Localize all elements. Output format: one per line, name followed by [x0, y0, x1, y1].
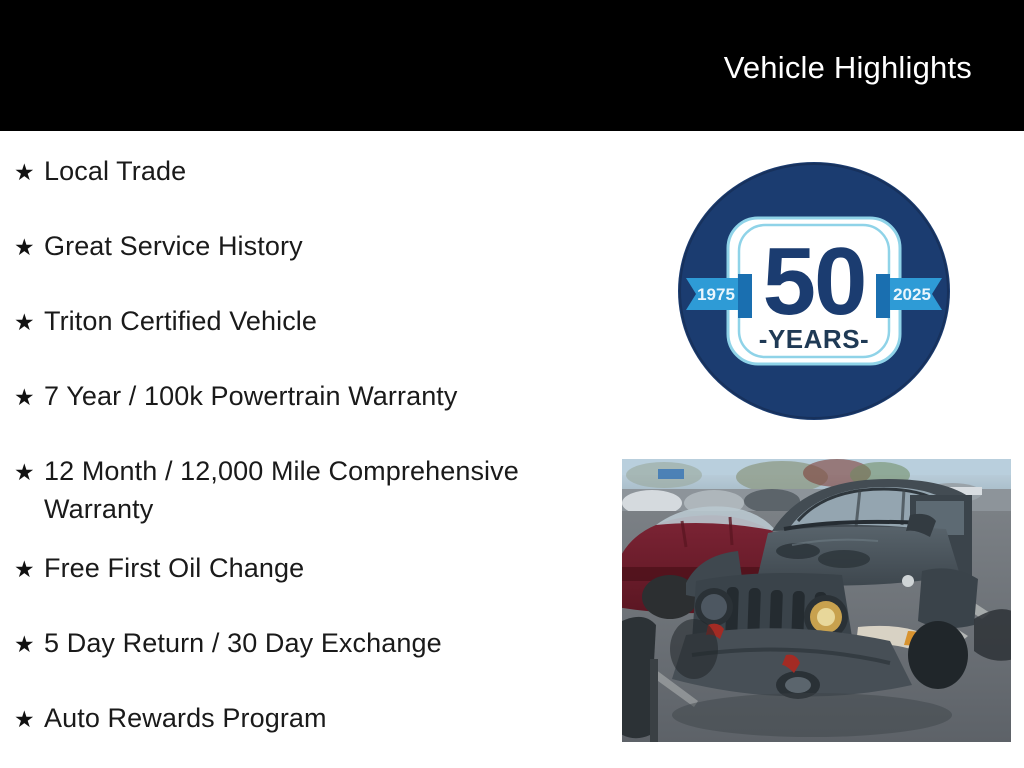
list-item: ★ Triton Certified Vehicle	[0, 281, 600, 356]
star-bullet-icon: ★	[14, 206, 44, 265]
anniversary-badge: 1975 2025 50 -YEARS-	[678, 162, 950, 420]
header-bar: Vehicle Highlights	[0, 0, 1024, 131]
highlight-label: 12 Month / 12,000 Mile Comprehensive War…	[44, 431, 600, 528]
star-bullet-icon: ★	[14, 431, 44, 490]
list-item: ★ 12 Month / 12,000 Mile Comprehensive W…	[0, 431, 600, 528]
highlight-label: 5 Day Return / 30 Day Exchange	[44, 603, 600, 662]
badge-start-year: 1975	[697, 285, 735, 304]
highlight-label: 7 Year / 100k Powertrain Warranty	[44, 356, 600, 415]
highlight-label: Auto Rewards Program	[44, 678, 600, 737]
list-item: ★ Great Service History	[0, 206, 600, 281]
star-bullet-icon: ★	[14, 281, 44, 340]
highlight-label: Triton Certified Vehicle	[44, 281, 600, 340]
list-item: ★ Free First Oil Change	[0, 528, 600, 603]
list-item: ★ Auto Rewards Program	[0, 678, 600, 753]
list-item: ★ 5 Day Return / 30 Day Exchange	[0, 603, 600, 678]
star-bullet-icon: ★	[14, 678, 44, 737]
list-item: ★ Local Trade	[0, 131, 600, 206]
highlight-label: Local Trade	[44, 131, 600, 190]
badge-number: 50	[763, 228, 866, 335]
star-bullet-icon: ★	[14, 131, 44, 190]
star-bullet-icon: ★	[14, 356, 44, 415]
anniversary-badge-graphic: 1975 2025 50 -YEARS-	[678, 162, 950, 420]
page-title: Vehicle Highlights	[724, 50, 972, 86]
vehicle-photo-image	[622, 459, 1011, 742]
highlight-label: Great Service History	[44, 206, 600, 265]
highlight-label: Free First Oil Change	[44, 528, 600, 587]
vehicle-highlights-list: ★ Local Trade ★ Great Service History ★ …	[0, 131, 600, 753]
vehicle-highlights-page: Vehicle Highlights ★ Local Trade ★ Great…	[0, 0, 1024, 768]
star-bullet-icon: ★	[14, 603, 44, 662]
vehicle-photo	[622, 459, 1011, 742]
badge-years-label: -YEARS-	[759, 324, 869, 354]
badge-end-year: 2025	[893, 285, 931, 304]
star-bullet-icon: ★	[14, 528, 44, 587]
list-item: ★ 7 Year / 100k Powertrain Warranty	[0, 356, 600, 431]
